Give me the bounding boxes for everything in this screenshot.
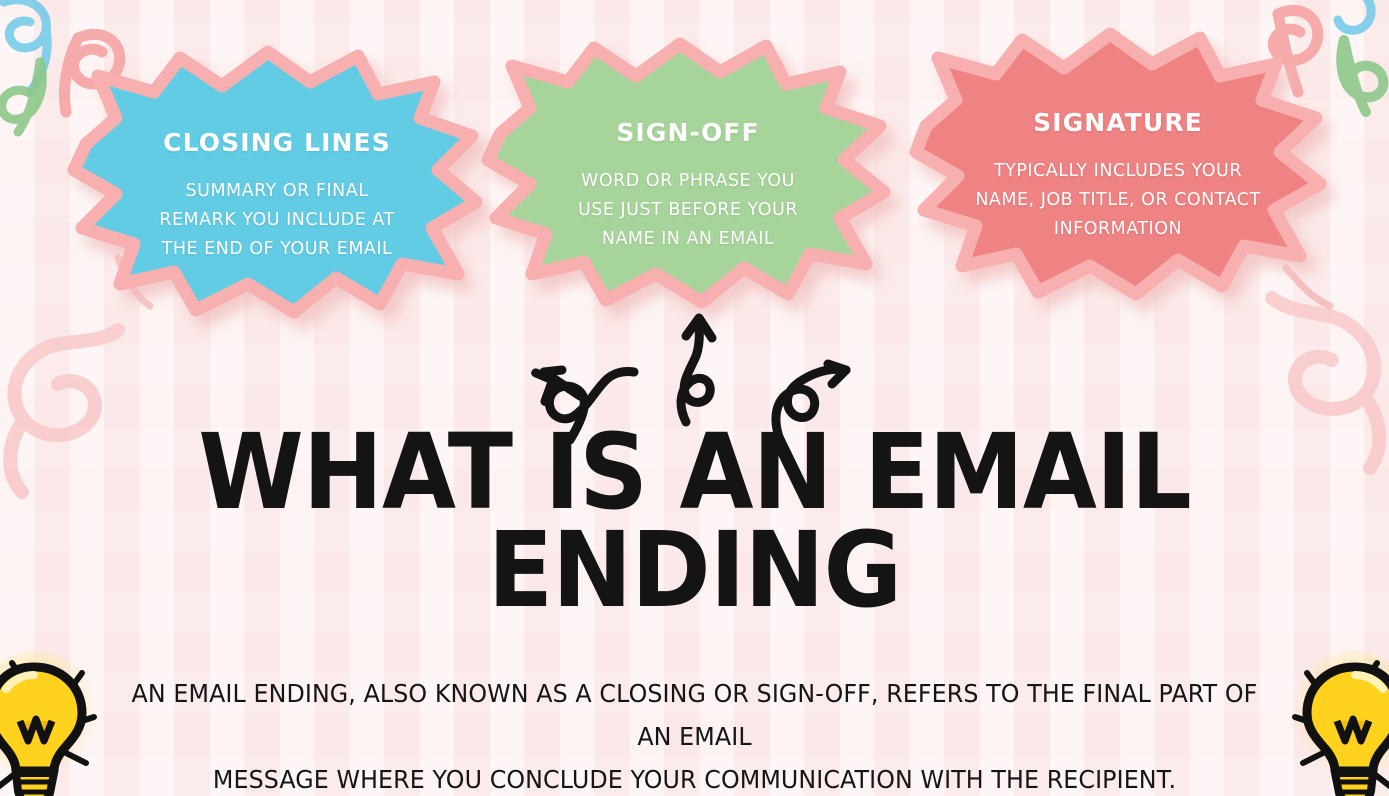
caption-line-2: MESSAGE WHERE YOU CONCLUDE YOUR COMMUNIC…	[125, 758, 1264, 796]
caption-line-1: AN EMAIL ENDING, ALSO KNOWN AS A CLOSING…	[125, 672, 1264, 758]
badge-desc-line-1: TYPICALLY INCLUDES YOUR	[912, 157, 1324, 186]
lightbulb-base	[1335, 773, 1373, 796]
title-line-1: WHAT IS AN EMAIL	[56, 424, 1334, 522]
title-line-2: ENDING	[56, 522, 1334, 620]
slide-canvas: CLOSING LINES SUMMARY OR FINAL REMARK YO…	[0, 0, 1389, 796]
lightbulb-left-icon	[0, 637, 126, 796]
badge-desc-line-3: INFORMATION	[912, 215, 1324, 244]
badge-desc-line-1: WORD OR PHRASE YOU	[488, 167, 888, 196]
badge-title: SIGN-OFF	[488, 118, 888, 147]
badge-title: SIGNATURE	[912, 108, 1324, 137]
badge-sign-off[interactable]: SIGN-OFF WORD OR PHRASE YOU USE JUST BEF…	[488, 44, 888, 309]
badge-title: CLOSING LINES	[72, 128, 482, 157]
badge-row: CLOSING LINES SUMMARY OR FINAL REMARK YO…	[0, 0, 1389, 330]
badge-desc-line-2: NAME, JOB TITLE, OR CONTACT	[912, 186, 1324, 215]
badge-signature[interactable]: SIGNATURE TYPICALLY INCLUDES YOUR NAME, …	[912, 34, 1324, 299]
badge-desc-line-1: SUMMARY OR FINAL	[72, 177, 482, 206]
badge-desc-line-2: USE JUST BEFORE YOUR	[488, 196, 888, 225]
page-title: WHAT IS AN EMAIL ENDING	[0, 424, 1389, 620]
badge-desc-line-3: NAME IN AN EMAIL	[488, 225, 888, 254]
caption-block: AN EMAIL ENDING, ALSO KNOWN AS A CLOSING…	[125, 672, 1264, 796]
badge-closing-lines[interactable]: CLOSING LINES SUMMARY OR FINAL REMARK YO…	[72, 52, 482, 317]
lightbulb-base	[16, 773, 54, 796]
badge-desc-line-3: THE END OF YOUR EMAIL	[72, 235, 482, 264]
lightbulb-right-icon	[1263, 637, 1389, 796]
badge-desc-line-2: REMARK YOU INCLUDE AT	[72, 206, 482, 235]
arrow-center-icon	[681, 318, 712, 422]
